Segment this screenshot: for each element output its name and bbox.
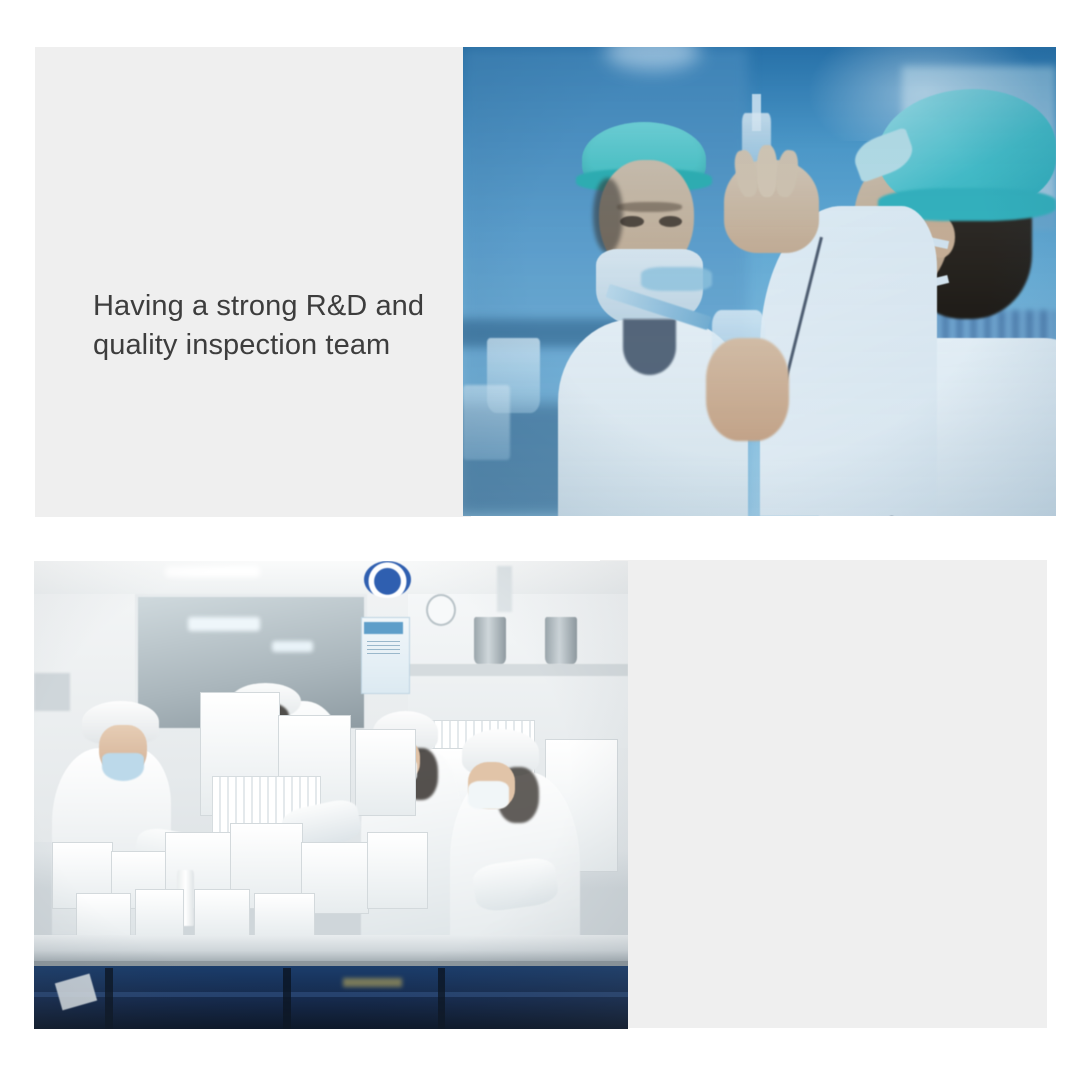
- section-rnd-quality: Having a strong R&D and quality inspecti…: [0, 0, 1080, 540]
- photo-quality-inspection-lab: [463, 47, 1056, 516]
- collage-page: Having a strong R&D and quality inspecti…: [0, 0, 1080, 1080]
- section-warehouse: a warehouse distribution area a warehous…: [0, 540, 1080, 1080]
- caption-panel-bottom: a warehouse distribution area a warehous…: [600, 560, 1047, 1028]
- lab-photo-canvas: [463, 47, 1056, 516]
- packing-photo-canvas: [34, 561, 628, 1029]
- caption-panel-top: Having a strong R&D and quality inspecti…: [35, 47, 471, 517]
- caption-rnd-quality: Having a strong R&D and quality inspecti…: [93, 287, 493, 364]
- photo-warehouse-packing-room: [34, 561, 628, 1029]
